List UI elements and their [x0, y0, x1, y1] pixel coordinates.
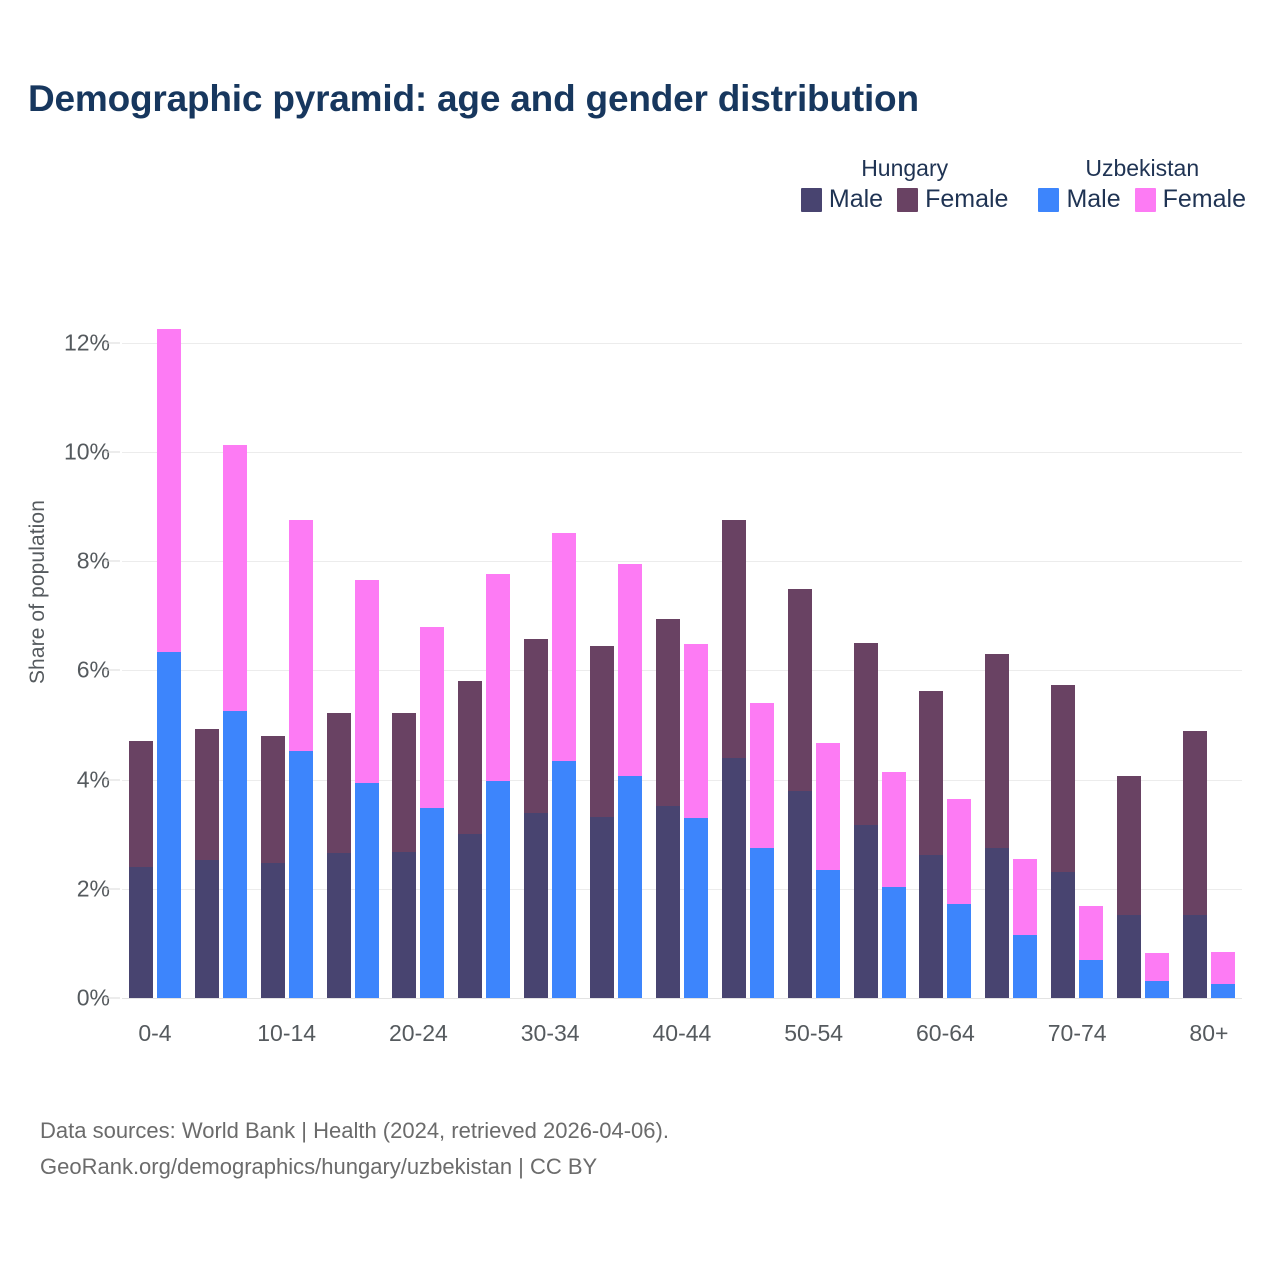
bar-segment-uzbekistan-female[interactable]: [420, 627, 444, 808]
bar-segment-uzbekistan-male[interactable]: [684, 818, 708, 998]
bar-hungary[interactable]: [327, 713, 351, 998]
bar-uzbekistan[interactable]: [882, 772, 906, 998]
bar-segment-hungary-female[interactable]: [458, 681, 482, 834]
bar-segment-hungary-male[interactable]: [392, 852, 416, 998]
bar-group: [1110, 310, 1176, 998]
bar-segment-uzbekistan-female[interactable]: [552, 533, 576, 761]
bar-uzbekistan[interactable]: [816, 743, 840, 998]
bar-group: [847, 310, 913, 998]
bar-segment-hungary-male[interactable]: [129, 867, 153, 998]
bar-segment-uzbekistan-female[interactable]: [882, 772, 906, 887]
bar-hungary[interactable]: [722, 520, 746, 998]
bar-hungary[interactable]: [524, 639, 548, 998]
bar-uzbekistan[interactable]: [750, 703, 774, 998]
bar-group: [254, 310, 320, 998]
bar-segment-hungary-female[interactable]: [392, 713, 416, 852]
legend-swatch-icon: [1038, 188, 1059, 212]
bar-segment-hungary-female[interactable]: [656, 619, 680, 806]
bar-uzbekistan[interactable]: [1145, 953, 1169, 998]
bar-group: [451, 310, 517, 998]
bar-segment-hungary-female[interactable]: [1183, 731, 1207, 915]
legend-item-hungary-female[interactable]: Female: [897, 187, 1008, 212]
bar-segment-hungary-male[interactable]: [195, 860, 219, 998]
bar-segment-uzbekistan-female[interactable]: [1013, 859, 1037, 935]
bar-group: [188, 310, 254, 998]
bar-uzbekistan[interactable]: [1211, 952, 1235, 998]
bar-group: [781, 310, 847, 998]
bar-segment-hungary-female[interactable]: [524, 639, 548, 814]
footer-line-sources: Data sources: World Bank | Health (2024,…: [40, 1113, 669, 1149]
bar-hungary[interactable]: [788, 589, 812, 998]
bar-segment-hungary-female[interactable]: [854, 643, 878, 825]
bar-segment-hungary-male[interactable]: [919, 855, 943, 998]
bar-segment-uzbekistan-male[interactable]: [355, 783, 379, 998]
bar-segment-hungary-female[interactable]: [129, 741, 153, 867]
legend-item-hungary-male[interactable]: Male: [801, 187, 883, 212]
bar-segment-hungary-male[interactable]: [590, 817, 614, 998]
bar-uzbekistan[interactable]: [420, 627, 444, 998]
chart-page: Demographic pyramid: age and gender dist…: [0, 0, 1280, 1280]
bar-segment-hungary-female[interactable]: [327, 713, 351, 853]
bar-uzbekistan[interactable]: [1079, 906, 1103, 998]
bar-hungary[interactable]: [1051, 685, 1075, 998]
x-axis-tick-label: 70-74: [1044, 1020, 1110, 1060]
bar-uzbekistan[interactable]: [223, 445, 247, 998]
x-axis-tick-label: 40-44: [649, 1020, 715, 1060]
x-axis-tick-label: 0-4: [122, 1020, 188, 1060]
bar-group: [517, 310, 583, 998]
legend-item-label: Male: [1066, 187, 1120, 212]
bar-segment-uzbekistan-male[interactable]: [552, 761, 576, 998]
bar-segment-uzbekistan-female[interactable]: [486, 574, 510, 781]
bar-segment-hungary-female[interactable]: [261, 736, 285, 863]
x-axis-tick-label: 50-54: [781, 1020, 847, 1060]
page-title: Demographic pyramid: age and gender dist…: [28, 78, 919, 120]
y-axis-tick-label: 0%: [0, 985, 110, 1012]
bar-segment-uzbekistan-male[interactable]: [289, 751, 313, 998]
bar-segment-uzbekistan-female[interactable]: [355, 580, 379, 784]
y-axis-tick-mark: [104, 342, 120, 343]
plot-area: 0%2%4%6%8%10%12%: [122, 310, 1242, 998]
bar-segment-uzbekistan-male[interactable]: [420, 808, 444, 998]
bar-group: [978, 310, 1044, 998]
legend-item-label: Female: [925, 187, 1008, 212]
chart-legend: HungaryMaleFemaleUzbekistanMaleFemale: [801, 155, 1246, 212]
bar-segment-uzbekistan-male[interactable]: [816, 870, 840, 998]
bar-segment-hungary-female[interactable]: [722, 520, 746, 758]
legend-item-uzbekistan-male[interactable]: Male: [1038, 187, 1120, 212]
bar-segment-hungary-female[interactable]: [919, 691, 943, 855]
x-axis-tick-label: 30-34: [517, 1020, 583, 1060]
bar-segment-hungary-male[interactable]: [1117, 915, 1141, 998]
bar-segment-hungary-male[interactable]: [722, 758, 746, 998]
bar-uzbekistan[interactable]: [684, 644, 708, 998]
bar-uzbekistan[interactable]: [486, 574, 510, 998]
bar-uzbekistan[interactable]: [157, 329, 181, 998]
bar-segment-hungary-male[interactable]: [327, 853, 351, 998]
y-axis-tick-mark: [104, 451, 120, 452]
bar-group: [320, 310, 386, 998]
footer-line-url: GeoRank.org/demographics/hungary/uzbekis…: [40, 1149, 669, 1185]
bar-segment-hungary-male[interactable]: [854, 825, 878, 998]
legend-group-uzbekistan: UzbekistanMaleFemale: [1038, 155, 1246, 212]
bar-segment-hungary-male[interactable]: [656, 806, 680, 998]
bar-segment-hungary-female[interactable]: [590, 646, 614, 816]
bar-hungary[interactable]: [919, 691, 943, 998]
bar-hungary[interactable]: [1183, 731, 1207, 998]
bar-segment-uzbekistan-male[interactable]: [947, 904, 971, 998]
bar-segment-uzbekistan-male[interactable]: [1211, 984, 1235, 998]
legend-item-label: Male: [829, 187, 883, 212]
bar-uzbekistan[interactable]: [289, 520, 313, 998]
bar-segment-uzbekistan-female[interactable]: [816, 743, 840, 870]
bar-segment-hungary-male[interactable]: [1051, 872, 1075, 998]
bar-segment-uzbekistan-female[interactable]: [750, 703, 774, 849]
y-axis-tick-mark: [104, 561, 120, 562]
bar-group: [1044, 310, 1110, 998]
bar-segment-uzbekistan-female[interactable]: [1145, 953, 1169, 980]
legend-group-hungary: HungaryMaleFemale: [801, 155, 1009, 212]
y-axis-tick-label: 2%: [0, 875, 110, 902]
y-axis-tick-label: 12%: [0, 329, 110, 356]
bar-segment-uzbekistan-female[interactable]: [684, 644, 708, 818]
bar-segment-uzbekistan-female[interactable]: [618, 564, 642, 776]
legend-items: MaleFemale: [801, 187, 1009, 212]
legend-swatch-icon: [801, 188, 822, 212]
bar-segment-hungary-female[interactable]: [788, 589, 812, 791]
bar-segment-hungary-female[interactable]: [1117, 776, 1141, 915]
x-axis-tick-label: 80+: [1176, 1020, 1242, 1060]
bar-segment-uzbekistan-male[interactable]: [486, 781, 510, 998]
y-axis-tick-label: 6%: [0, 657, 110, 684]
bar-segment-uzbekistan-female[interactable]: [157, 329, 181, 652]
bar-group: [386, 310, 452, 998]
bar-segment-uzbekistan-male[interactable]: [750, 848, 774, 998]
y-axis-tick-mark: [104, 670, 120, 671]
bar-hungary[interactable]: [985, 654, 1009, 998]
y-axis-tick-mark: [104, 779, 120, 780]
bar-segment-hungary-male[interactable]: [788, 791, 812, 998]
bar-hungary[interactable]: [656, 619, 680, 998]
legend-group-title: Uzbekistan: [1085, 155, 1199, 181]
bar-segment-uzbekistan-female[interactable]: [289, 520, 313, 752]
y-axis-tick-mark: [104, 888, 120, 889]
bar-segment-uzbekistan-female[interactable]: [1079, 906, 1103, 960]
y-axis-tick-label: 10%: [0, 438, 110, 465]
legend-group-title: Hungary: [861, 155, 948, 181]
bar-hungary[interactable]: [590, 646, 614, 998]
bar-segment-hungary-male[interactable]: [458, 834, 482, 998]
bar-group: [715, 310, 781, 998]
bar-uzbekistan[interactable]: [552, 533, 576, 998]
legend-swatch-icon: [897, 188, 918, 212]
bar-segment-hungary-female[interactable]: [985, 654, 1009, 848]
x-axis-tick-label: 20-24: [386, 1020, 452, 1060]
bar-uzbekistan[interactable]: [618, 564, 642, 998]
legend-items: MaleFemale: [1038, 187, 1246, 212]
bar-segment-uzbekistan-male[interactable]: [1145, 981, 1169, 998]
x-axis-tick-label: 60-64: [913, 1020, 979, 1060]
bar-segment-uzbekistan-male[interactable]: [157, 652, 181, 998]
x-axis-tick-label: 10-14: [254, 1020, 320, 1060]
bar-segment-uzbekistan-female[interactable]: [947, 799, 971, 904]
bar-segment-hungary-female[interactable]: [1051, 685, 1075, 872]
bar-hungary[interactable]: [261, 736, 285, 998]
bar-segment-hungary-male[interactable]: [985, 848, 1009, 998]
bar-uzbekistan[interactable]: [947, 799, 971, 998]
bar-hungary[interactable]: [392, 713, 416, 998]
bar-segment-uzbekistan-female[interactable]: [1211, 952, 1235, 985]
bar-segment-uzbekistan-female[interactable]: [223, 445, 247, 711]
legend-swatch-icon: [1135, 188, 1156, 212]
bar-segment-hungary-male[interactable]: [524, 813, 548, 998]
legend-item-label: Female: [1163, 187, 1246, 212]
bar-group: [649, 310, 715, 998]
bar-hungary[interactable]: [1117, 776, 1141, 998]
bar-group: [583, 310, 649, 998]
bar-segment-uzbekistan-male[interactable]: [618, 776, 642, 998]
bar-segment-hungary-male[interactable]: [1183, 915, 1207, 998]
bar-segment-hungary-male[interactable]: [261, 863, 285, 998]
bar-segment-uzbekistan-male[interactable]: [223, 711, 247, 998]
bar-segment-uzbekistan-male[interactable]: [1013, 935, 1037, 998]
bar-group: [913, 310, 979, 998]
y-axis-tick-label: 8%: [0, 548, 110, 575]
footer-attribution: Data sources: World Bank | Health (2024,…: [40, 1113, 669, 1184]
bar-hungary[interactable]: [129, 741, 153, 998]
bar-hungary[interactable]: [854, 643, 878, 998]
y-axis-tick-mark: [104, 998, 120, 999]
y-axis-tick-label: 4%: [0, 766, 110, 793]
bar-uzbekistan[interactable]: [355, 580, 379, 998]
bar-hungary[interactable]: [458, 681, 482, 998]
x-axis-ticks: 0-410-1420-2430-3440-4450-5460-6470-7480…: [122, 1020, 1242, 1060]
bar-segment-uzbekistan-male[interactable]: [1079, 960, 1103, 998]
bar-uzbekistan[interactable]: [1013, 859, 1037, 998]
bar-group: [122, 310, 188, 998]
bar-group: [1176, 310, 1242, 998]
gridline: [122, 998, 1242, 999]
bar-segment-hungary-female[interactable]: [195, 729, 219, 860]
bar-hungary[interactable]: [195, 729, 219, 998]
bar-segment-uzbekistan-male[interactable]: [882, 887, 906, 998]
bar-groups: [122, 310, 1242, 998]
legend-item-uzbekistan-female[interactable]: Female: [1135, 187, 1246, 212]
